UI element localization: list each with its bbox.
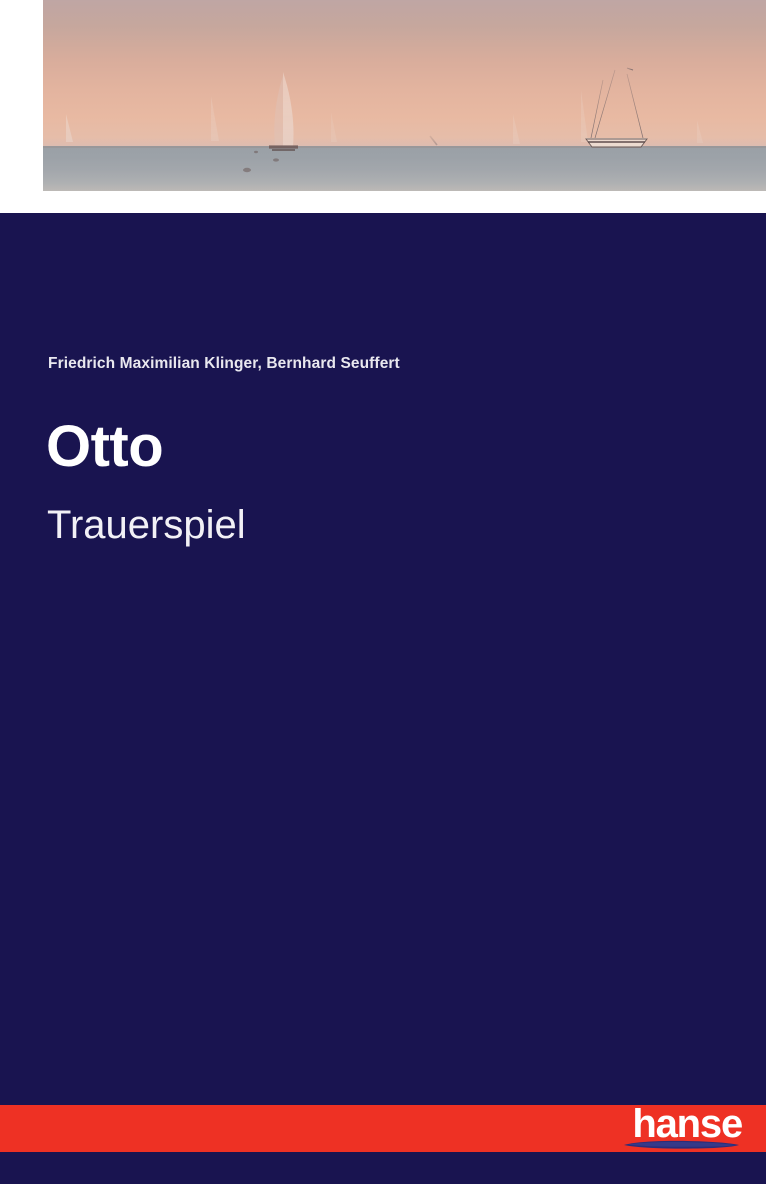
hanse-logo: hanse (606, 1107, 742, 1151)
publisher-band: hanse (0, 1105, 766, 1152)
hanse-logo-text: hanse (606, 1107, 742, 1141)
bottom-strip (0, 1152, 766, 1184)
title-field: Friedrich Maximilian Klinger, Bernhard S… (0, 213, 766, 1105)
photo-gap (0, 191, 766, 213)
cover-photograph (43, 0, 766, 191)
page-subtitle: Trauerspiel (47, 505, 246, 545)
photo-band (0, 0, 766, 213)
author-names: Friedrich Maximilian Klinger, Bernhard S… (48, 355, 400, 373)
hanse-logo-swoosh-icon (622, 1140, 740, 1149)
ships-illustration (43, 0, 766, 191)
page-title: Otto (46, 418, 163, 476)
book-cover: Friedrich Maximilian Klinger, Bernhard S… (0, 0, 766, 1184)
